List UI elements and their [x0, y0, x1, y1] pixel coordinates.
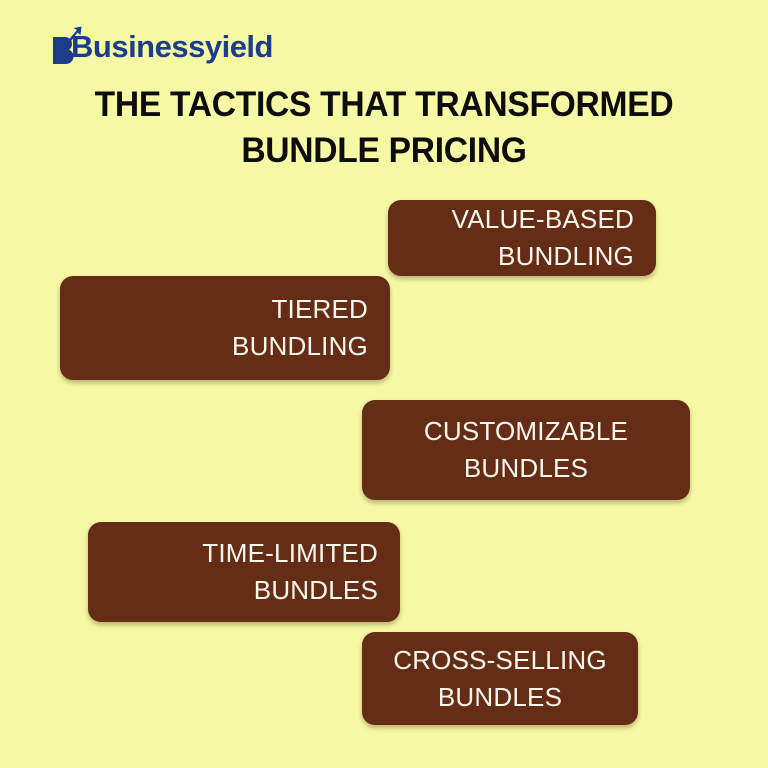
tactic-card-cross-selling[interactable]: CROSS-SELLING BUNDLES: [362, 632, 638, 725]
tactic-label-line-2: BUNDLING: [498, 238, 634, 275]
page-title-line-2: BUNDLE PRICING: [54, 128, 714, 174]
tactic-card-customizable[interactable]: CUSTOMIZABLE BUNDLES: [362, 400, 690, 500]
tactic-label-line-1: CROSS-SELLING: [393, 642, 607, 679]
page-title-line-1: THE TACTICS THAT TRANSFORMED: [54, 82, 714, 128]
tactic-card-value-based[interactable]: VALUE-BASED BUNDLING: [388, 200, 656, 276]
tactic-label-line-1: VALUE-BASED: [452, 201, 634, 238]
tactic-label-line-2: BUNDLES: [438, 679, 562, 716]
b-arrow-logo-icon: [50, 26, 84, 66]
infographic-canvas: Businessyield THE TACTICS THAT TRANSFORM…: [0, 0, 768, 768]
page-title: THE TACTICS THAT TRANSFORMED BUNDLE PRIC…: [54, 82, 714, 174]
tactic-card-tiered[interactable]: TIERED BUNDLING: [60, 276, 390, 380]
tactic-label-line-2: BUNDLES: [254, 572, 378, 609]
tactic-label-line-2: BUNDLING: [232, 328, 368, 365]
tactic-label-line-1: TIERED: [271, 291, 368, 328]
tactic-label-line-1: TIME-LIMITED: [202, 535, 378, 572]
brand-logo: Businessyield: [50, 24, 273, 68]
tactic-label-line-2: BUNDLES: [464, 450, 588, 487]
tactic-card-time-limited[interactable]: TIME-LIMITED BUNDLES: [88, 522, 400, 622]
brand-name: Businessyield: [71, 31, 273, 62]
tactic-label-line-1: CUSTOMIZABLE: [424, 413, 628, 450]
